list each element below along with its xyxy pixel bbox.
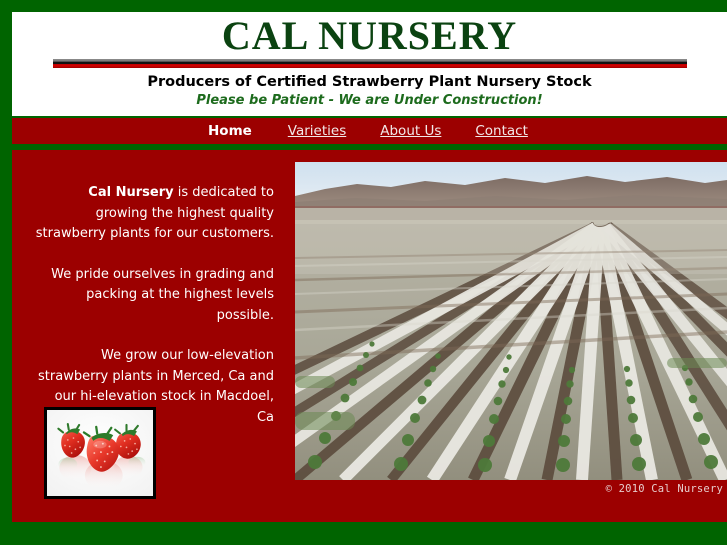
paragraph-one: Cal Nursery is dedicated to growing the … bbox=[34, 183, 274, 245]
copyright-text: © 2010 Cal Nursery bbox=[606, 482, 723, 496]
nav-item-about-us[interactable]: About Us bbox=[380, 118, 441, 144]
divider-red-line bbox=[53, 64, 687, 68]
site-tagline: Producers of Certified Strawberry Plant … bbox=[12, 73, 727, 92]
main-content: Cal Nursery is dedicated to growing the … bbox=[12, 150, 727, 522]
intro-copy: Cal Nursery is dedicated to growing the … bbox=[34, 183, 274, 428]
nav-items-container: Home Varieties About Us Contact bbox=[208, 118, 562, 144]
nav-item-varieties[interactable]: Varieties bbox=[288, 118, 346, 144]
main-navigation: Home Varieties About Us Contact bbox=[12, 118, 727, 144]
strawberries-image bbox=[47, 410, 153, 496]
construction-notice: Please be Patient - We are Under Constru… bbox=[12, 92, 727, 109]
page-root: CAL NURSERY Producers of Certified Straw… bbox=[0, 0, 727, 545]
header-divider bbox=[53, 59, 687, 69]
page-title: CAL NURSERY bbox=[12, 14, 727, 58]
brand-name: Cal Nursery bbox=[88, 185, 173, 200]
site-header: CAL NURSERY Producers of Certified Straw… bbox=[12, 12, 727, 116]
nav-item-contact[interactable]: Contact bbox=[475, 118, 528, 144]
paragraph-two: We pride ourselves in grading and packin… bbox=[34, 265, 274, 327]
strawberries-photo bbox=[44, 407, 156, 499]
nav-item-home[interactable]: Home bbox=[208, 118, 252, 144]
field-image bbox=[295, 162, 727, 480]
strawberry-field-photo bbox=[295, 162, 727, 480]
